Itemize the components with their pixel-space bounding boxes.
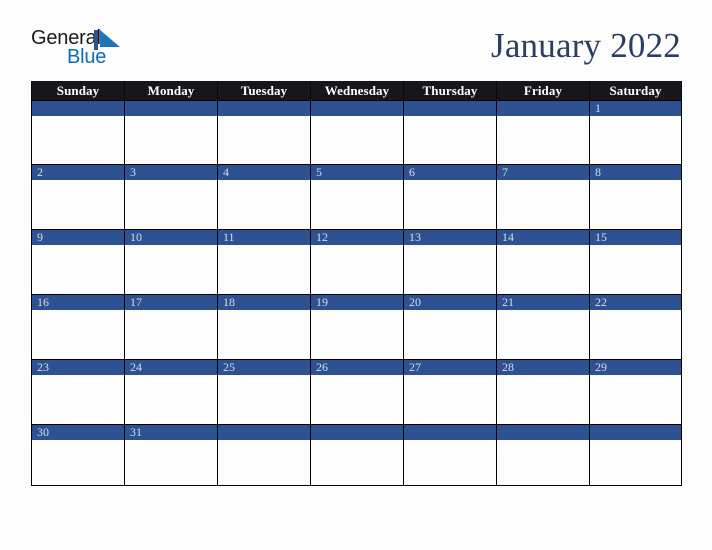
- day-number: 25: [218, 360, 310, 375]
- day-number: 4: [218, 165, 310, 180]
- weekday-header-friday: Friday: [497, 81, 590, 101]
- day-number: [218, 101, 310, 116]
- day-number: 28: [497, 360, 589, 375]
- day-cell[interactable]: [218, 425, 311, 486]
- day-number: 21: [497, 295, 589, 310]
- day-cell[interactable]: [32, 101, 125, 165]
- day-number: 8: [590, 165, 681, 180]
- day-number: 11: [218, 230, 310, 245]
- brand-logo[interactable]: General Blue: [31, 28, 191, 72]
- day-number: 12: [311, 230, 403, 245]
- day-number: 31: [125, 425, 217, 440]
- day-number: 17: [125, 295, 217, 310]
- day-number: 20: [404, 295, 496, 310]
- day-cell[interactable]: 6: [404, 165, 497, 230]
- day-cell[interactable]: 30: [32, 425, 125, 486]
- day-number: [311, 101, 403, 116]
- day-number: 2: [32, 165, 124, 180]
- calendar-grid: Sunday Monday Tuesday Wednesday Thursday…: [31, 81, 682, 486]
- day-cell[interactable]: 17: [125, 295, 218, 360]
- weekday-header-thursday: Thursday: [404, 81, 497, 101]
- calendar-week-row: 23 24 25 26 27 28 29: [32, 360, 682, 425]
- page-header: General Blue January 2022: [0, 0, 712, 78]
- day-number: 6: [404, 165, 496, 180]
- day-cell[interactable]: [404, 101, 497, 165]
- weekday-header-sunday: Sunday: [32, 81, 125, 101]
- weekday-header-tuesday: Tuesday: [218, 81, 311, 101]
- day-cell[interactable]: 16: [32, 295, 125, 360]
- logo-text-blue: Blue: [67, 47, 106, 67]
- day-number: [590, 425, 681, 440]
- day-cell[interactable]: 28: [497, 360, 590, 425]
- day-cell[interactable]: 23: [32, 360, 125, 425]
- day-number: 14: [497, 230, 589, 245]
- day-cell[interactable]: 5: [311, 165, 404, 230]
- day-number: 3: [125, 165, 217, 180]
- day-cell[interactable]: 13: [404, 230, 497, 295]
- day-number: 18: [218, 295, 310, 310]
- day-cell[interactable]: 11: [218, 230, 311, 295]
- calendar-week-row: 2 3 4 5 6 7 8: [32, 165, 682, 230]
- day-cell[interactable]: 4: [218, 165, 311, 230]
- day-cell[interactable]: 14: [497, 230, 590, 295]
- day-number: 24: [125, 360, 217, 375]
- day-number: 7: [497, 165, 589, 180]
- day-cell[interactable]: 27: [404, 360, 497, 425]
- day-number: [218, 425, 310, 440]
- calendar-week-row: 16 17 18 19 20 21 22: [32, 295, 682, 360]
- day-cell[interactable]: [218, 101, 311, 165]
- day-cell[interactable]: 21: [497, 295, 590, 360]
- day-number: 9: [32, 230, 124, 245]
- day-cell[interactable]: 8: [590, 165, 682, 230]
- day-number: 15: [590, 230, 681, 245]
- day-cell[interactable]: [497, 101, 590, 165]
- calendar-body: 1 2 3 4 5 6 7 8 9 10 11 12 13 14 15 16 1…: [32, 101, 682, 486]
- weekday-header-saturday: Saturday: [590, 81, 682, 101]
- day-cell[interactable]: 10: [125, 230, 218, 295]
- day-cell[interactable]: 18: [218, 295, 311, 360]
- day-cell[interactable]: 26: [311, 360, 404, 425]
- calendar-week-row: 9 10 11 12 13 14 15: [32, 230, 682, 295]
- day-cell[interactable]: 19: [311, 295, 404, 360]
- calendar-header-row: Sunday Monday Tuesday Wednesday Thursday…: [32, 81, 682, 101]
- day-number: [497, 425, 589, 440]
- day-cell[interactable]: 15: [590, 230, 682, 295]
- calendar-week-row: 1: [32, 101, 682, 165]
- day-cell[interactable]: [311, 425, 404, 486]
- calendar-week-row: 30 31: [32, 425, 682, 486]
- weekday-header-monday: Monday: [125, 81, 218, 101]
- logo-text-general: General: [31, 28, 101, 48]
- day-cell[interactable]: [590, 425, 682, 486]
- day-cell[interactable]: 24: [125, 360, 218, 425]
- day-cell[interactable]: [311, 101, 404, 165]
- day-number: 19: [311, 295, 403, 310]
- day-number: 5: [311, 165, 403, 180]
- day-number: 1: [590, 101, 681, 116]
- day-number: 10: [125, 230, 217, 245]
- day-cell[interactable]: 9: [32, 230, 125, 295]
- day-cell[interactable]: 22: [590, 295, 682, 360]
- day-cell[interactable]: 12: [311, 230, 404, 295]
- day-number: 27: [404, 360, 496, 375]
- day-number: 16: [32, 295, 124, 310]
- day-cell[interactable]: 1: [590, 101, 682, 165]
- day-cell[interactable]: 2: [32, 165, 125, 230]
- day-number: [311, 425, 403, 440]
- day-number: 23: [32, 360, 124, 375]
- day-number: 29: [590, 360, 681, 375]
- day-number: [497, 101, 589, 116]
- day-number: [404, 425, 496, 440]
- day-cell[interactable]: [404, 425, 497, 486]
- weekday-header-wednesday: Wednesday: [311, 81, 404, 101]
- day-number: [404, 101, 496, 116]
- day-cell[interactable]: [497, 425, 590, 486]
- day-number: 26: [311, 360, 403, 375]
- day-number: 30: [32, 425, 124, 440]
- day-cell[interactable]: 3: [125, 165, 218, 230]
- day-cell[interactable]: 20: [404, 295, 497, 360]
- day-number: 13: [404, 230, 496, 245]
- day-cell[interactable]: 7: [497, 165, 590, 230]
- day-number: [32, 101, 124, 116]
- day-cell[interactable]: 29: [590, 360, 682, 425]
- day-cell[interactable]: 25: [218, 360, 311, 425]
- day-cell[interactable]: [125, 101, 218, 165]
- day-number: 22: [590, 295, 681, 310]
- page-title: January 2022: [491, 26, 681, 66]
- day-number: [125, 101, 217, 116]
- day-cell[interactable]: 31: [125, 425, 218, 486]
